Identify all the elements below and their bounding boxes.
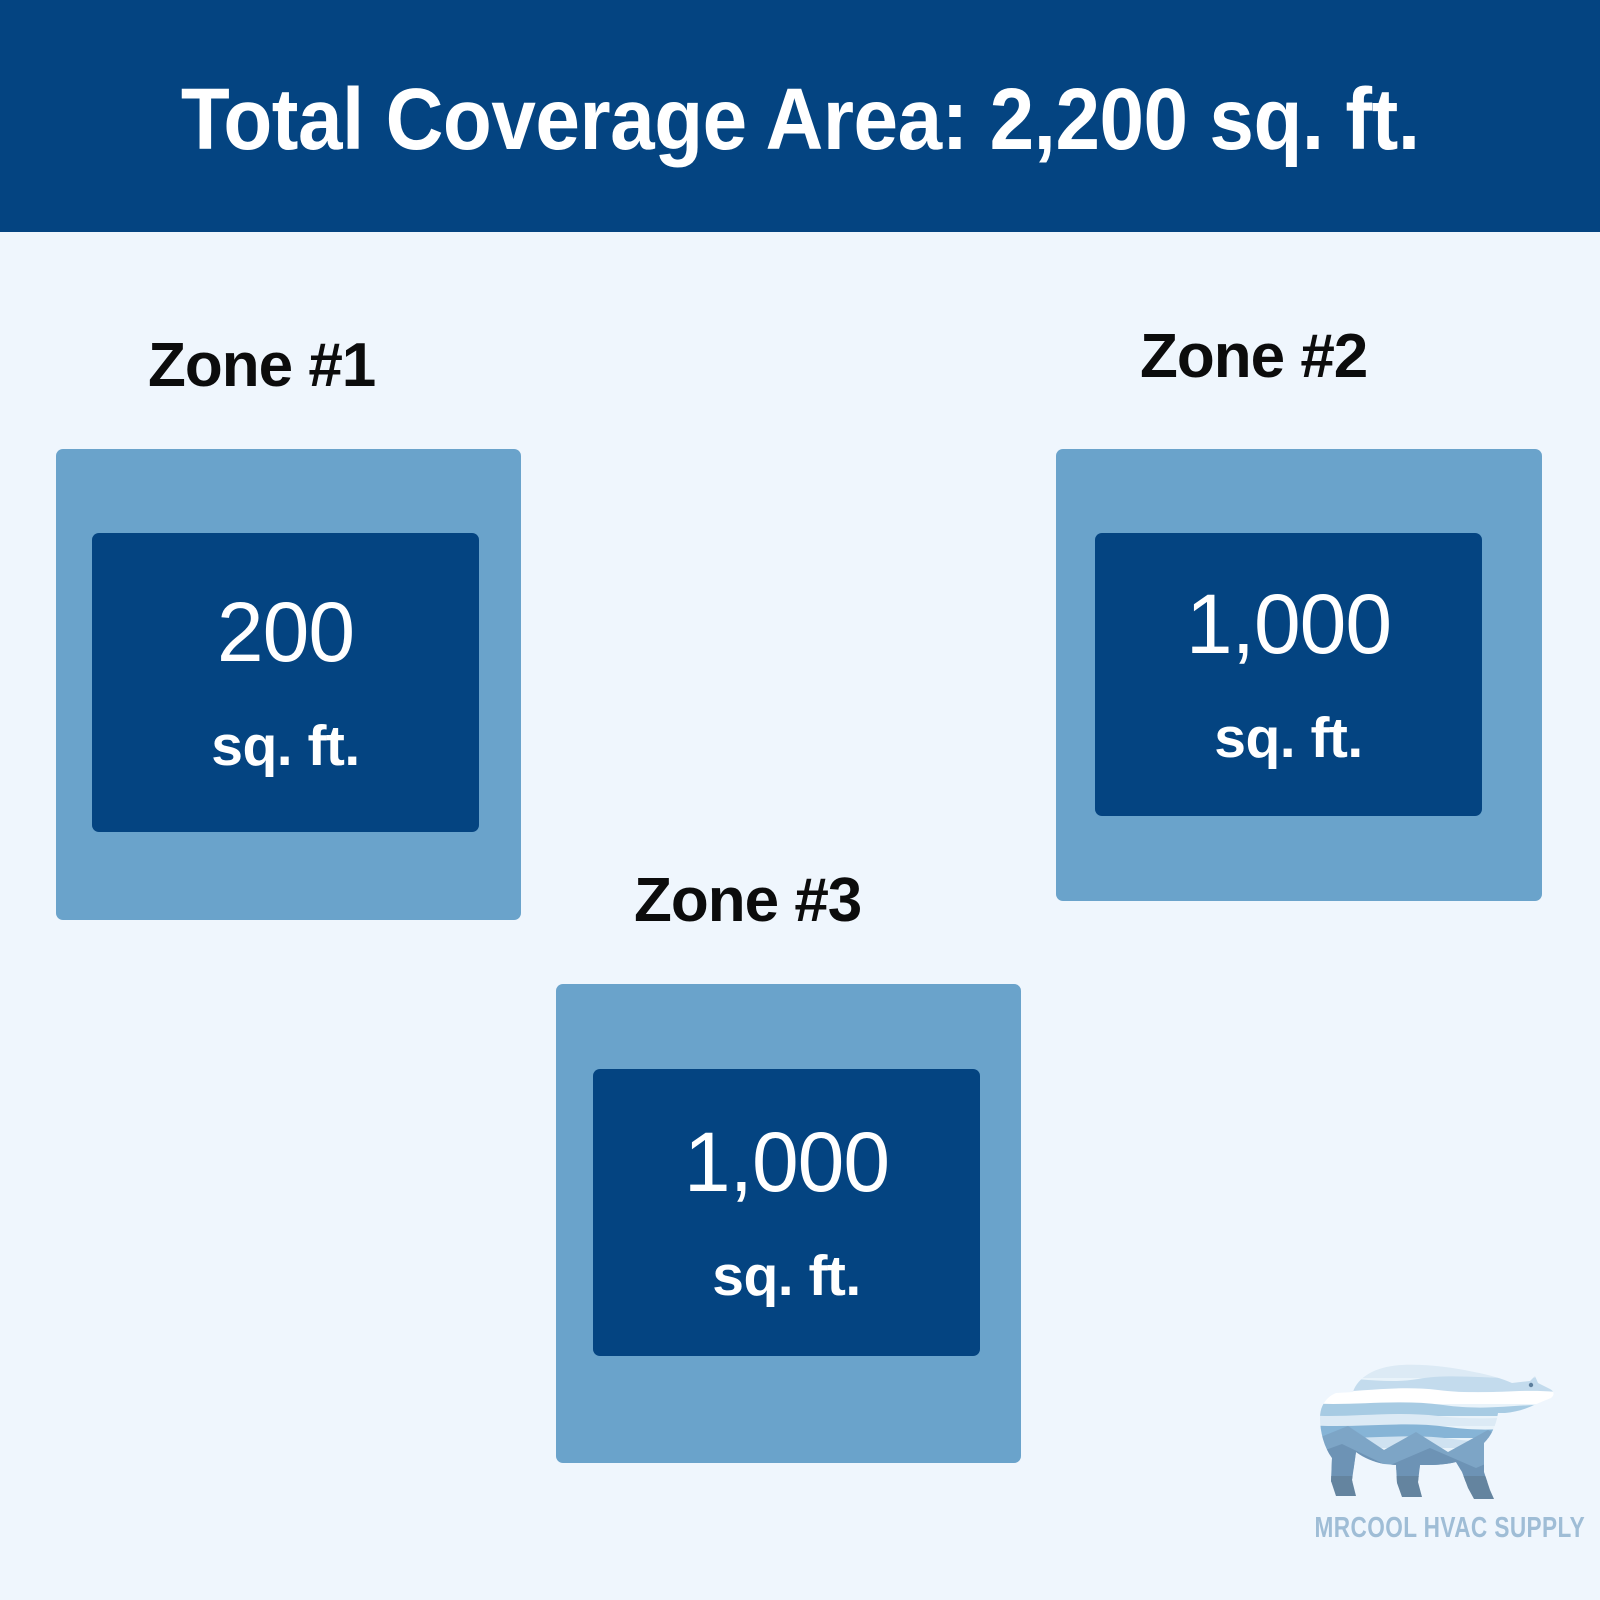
zone-label-1: Zone #1 xyxy=(148,335,375,397)
polar-bear-logo-icon xyxy=(1298,1352,1556,1506)
zone-outer-area-1: 200 sq. ft. xyxy=(56,449,521,920)
zone-inner-area-2: 1,000 sq. ft. xyxy=(1095,533,1482,816)
brand-wordmark: MRCOOL HVAC SUPPLY xyxy=(1315,1512,1546,1545)
brand-logo: MRCOOL HVAC SUPPLY xyxy=(1282,1352,1578,1552)
zone-unit-2: sq. ft. xyxy=(1214,710,1363,767)
zone-outer-area-2: 1,000 sq. ft. xyxy=(1056,449,1542,901)
zone-value-1: 200 xyxy=(217,590,354,674)
zone-label-2: Zone #2 xyxy=(1140,326,1367,388)
zone-label-3: Zone #3 xyxy=(634,870,861,932)
zone-value-2: 1,000 xyxy=(1186,582,1391,666)
zone-outer-area-3: 1,000 sq. ft. xyxy=(556,984,1021,1463)
zone-unit-3: sq. ft. xyxy=(712,1248,861,1305)
zone-unit-1: sq. ft. xyxy=(211,718,360,775)
zone-inner-area-3: 1,000 sq. ft. xyxy=(593,1069,980,1356)
header-banner: Total Coverage Area: 2,200 sq. ft. xyxy=(0,0,1600,232)
page-title: Total Coverage Area: 2,200 sq. ft. xyxy=(181,76,1420,163)
zone-value-3: 1,000 xyxy=(684,1120,889,1204)
zone-inner-area-1: 200 sq. ft. xyxy=(92,533,479,832)
